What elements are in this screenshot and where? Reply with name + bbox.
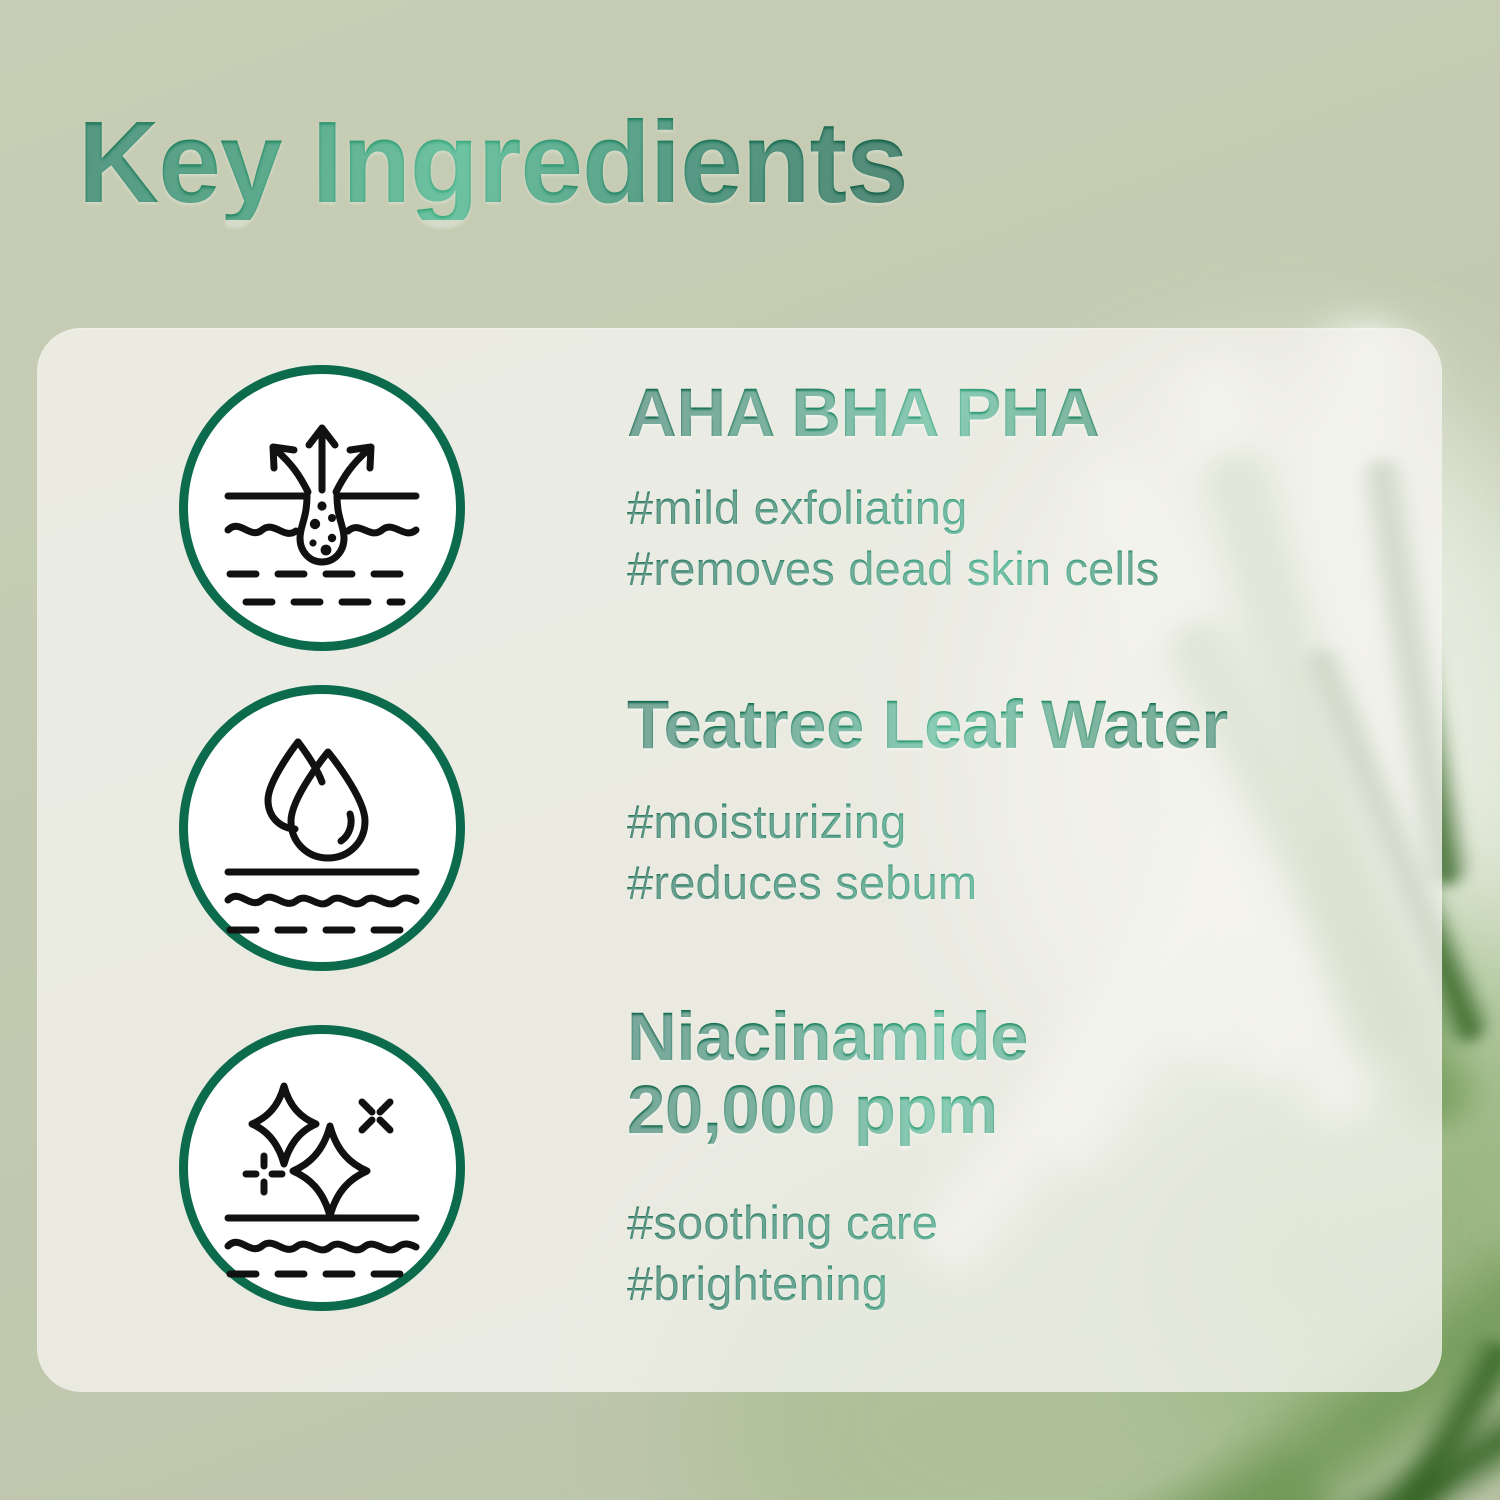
- ingredient-text: Niacinamide 20,000 ppm #soothing care #b…: [627, 1000, 1418, 1314]
- list-item: Teatree Leaf Water #moisturizing #reduce…: [37, 658, 1442, 978]
- ingredient-tags: #moisturizing #reduces sebum: [627, 791, 1418, 913]
- ingredient-tag: #mild exfoliating: [627, 477, 1418, 538]
- ingredient-tag: #soothing care: [627, 1192, 1418, 1253]
- pore-exfoliation-icon: [179, 365, 465, 651]
- ingredient-icon-wrap: [179, 685, 465, 971]
- ingredient-name: Niacinamide 20,000 ppm: [627, 1000, 1418, 1146]
- water-droplets-icon: [179, 685, 465, 971]
- ingredient-tag: #reduces sebum: [627, 852, 1418, 913]
- ingredient-tags: #mild exfoliating #removes dead skin cel…: [627, 477, 1418, 599]
- page-title: Key Ingredients: [78, 104, 908, 220]
- ingredient-icon-wrap: [179, 365, 465, 651]
- ingredient-tag: #removes dead skin cells: [627, 538, 1418, 599]
- ingredients-card: AHA BHA PHA #mild exfoliating #removes d…: [37, 328, 1442, 1392]
- ingredient-name: Teatree Leaf Water: [627, 688, 1418, 761]
- list-item: Niacinamide 20,000 ppm #soothing care #b…: [37, 978, 1442, 1378]
- key-ingredients-infographic: Key Ingredients: [0, 0, 1500, 1500]
- ingredient-text: Teatree Leaf Water #moisturizing #reduce…: [627, 688, 1418, 913]
- ingredient-icon-wrap: [179, 1025, 465, 1311]
- sparkle-brightening-icon: [179, 1025, 465, 1311]
- ingredient-tags: #soothing care #brightening: [627, 1192, 1418, 1314]
- ingredient-text: AHA BHA PHA #mild exfoliating #removes d…: [627, 376, 1418, 599]
- list-item: AHA BHA PHA #mild exfoliating #removes d…: [37, 338, 1442, 658]
- ingredient-tag: #brightening: [627, 1253, 1418, 1314]
- ingredient-name: AHA BHA PHA: [627, 376, 1418, 449]
- ingredient-list: AHA BHA PHA #mild exfoliating #removes d…: [37, 328, 1442, 1392]
- ingredient-tag: #moisturizing: [627, 791, 1418, 852]
